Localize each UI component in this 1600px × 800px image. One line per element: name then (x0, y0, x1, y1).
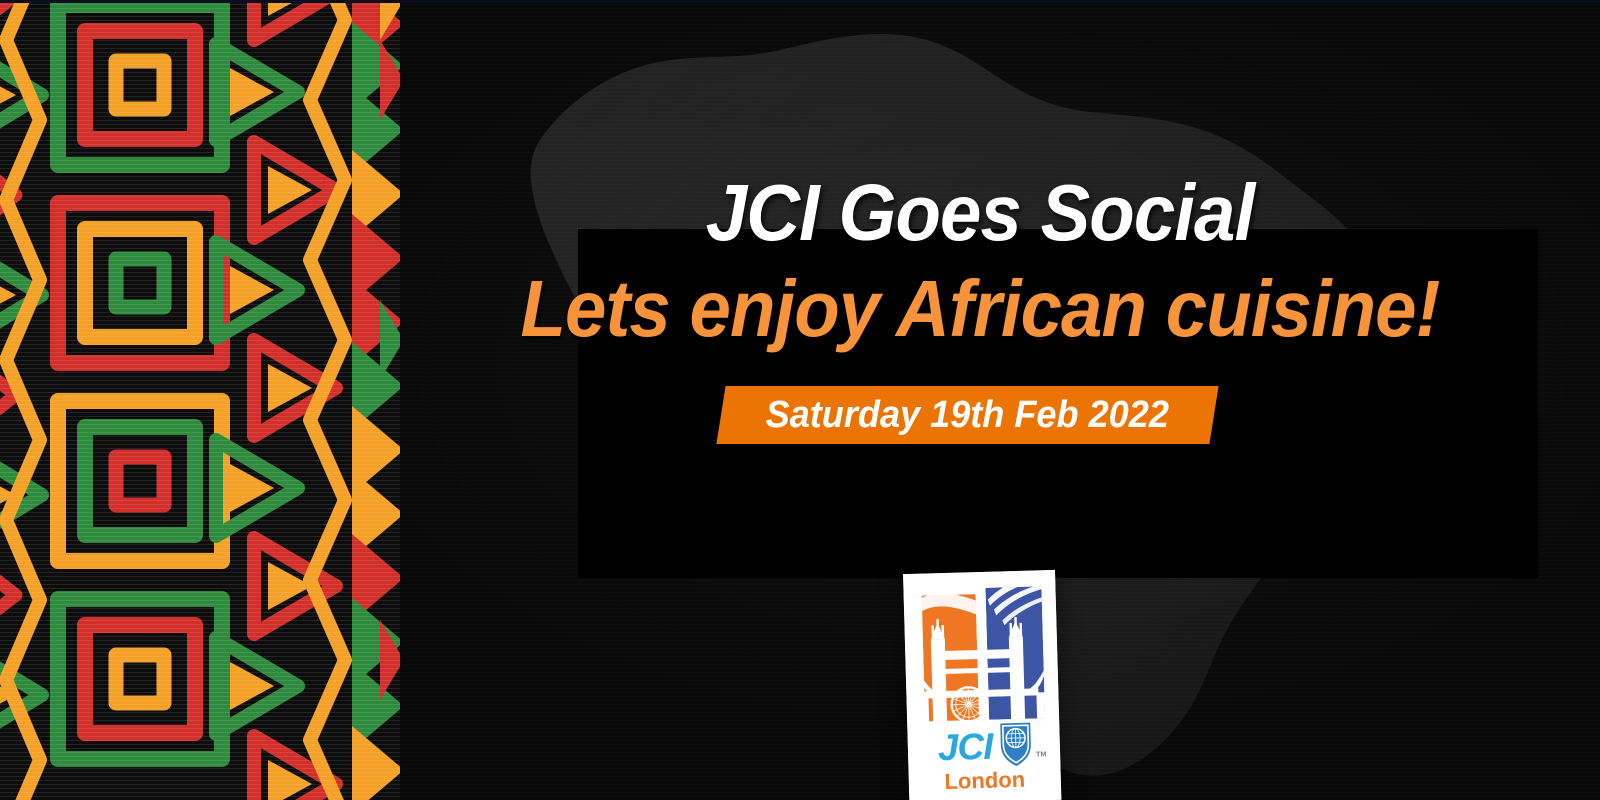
trademark-mark: TM (1036, 751, 1046, 758)
jci-london-logo-card[interactable]: JCI TM London (903, 570, 1061, 800)
poster-title: JCI Goes Social (441, 170, 1520, 256)
date-banner: Saturday 19th Feb 2022 (716, 386, 1218, 444)
top-border-rule (0, 0, 1600, 3)
poster-subtitle: Lets enjoy African cuisine! (441, 266, 1520, 352)
poster-canvas: JCI Goes Social Lets enjoy African cuisi… (0, 0, 1600, 800)
london-wordmark: London (944, 767, 1025, 794)
jci-wordmark: JCI (937, 726, 994, 769)
london-eye-wheel (951, 687, 986, 722)
date-banner-label: Saturday 19th Feb 2022 (766, 395, 1169, 435)
african-pattern-border (0, 0, 400, 800)
